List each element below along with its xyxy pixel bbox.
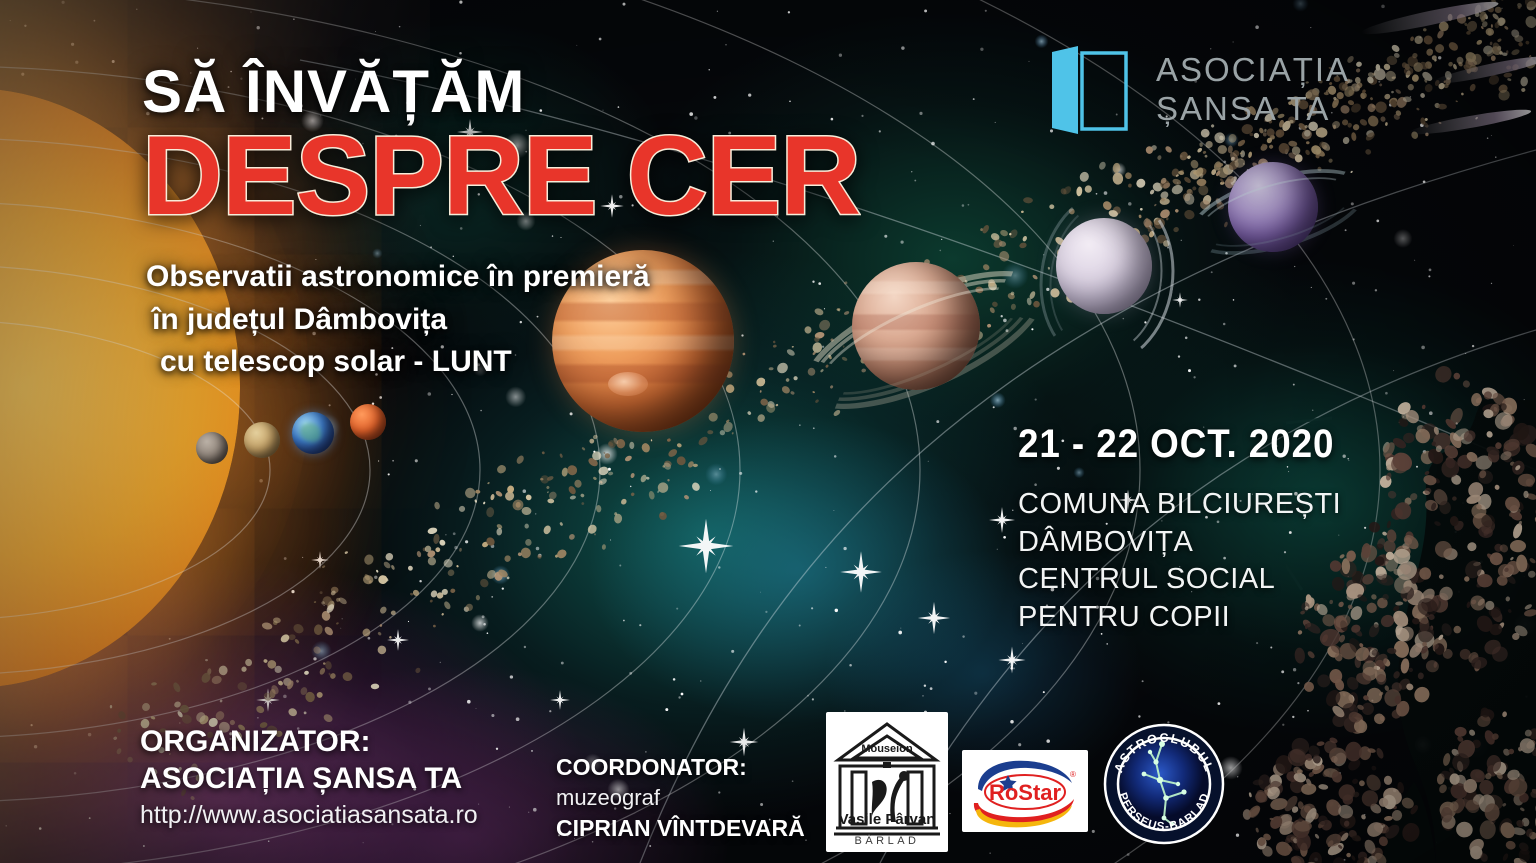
rostar-swoosh-icon: RoStar ®: [964, 753, 1086, 829]
planet-mercury: [196, 432, 228, 464]
partner-logo-astroclub[interactable]: ASTROCLUBUL PERSEUS-BARLAD: [1102, 722, 1226, 846]
poster-canvas: SĂ ÎNVĂȚĂM DESPRE CER Observatii astrono…: [0, 0, 1536, 863]
partner-logos: Mouseion Vasile Pârvan BÂRLAD RoStar ®: [826, 712, 1226, 852]
venue-line-2: DÂMBOVIȚA: [1018, 524, 1362, 562]
partner-logo-rostar[interactable]: RoStar ®: [962, 750, 1088, 832]
headline-block: SĂ ÎNVĂȚĂM DESPRE CER: [142, 62, 860, 232]
venue-line-1: COMUNA BILCIUREȘTI: [1018, 486, 1362, 524]
subtitle-line-2: în județul Dâmbovița: [146, 299, 650, 342]
partner-logo-museum[interactable]: Mouseion Vasile Pârvan BÂRLAD: [826, 712, 948, 852]
subtitle-line-3: cu telescop solar - LUNT: [146, 341, 650, 384]
coordinator-name: CIPRIAN VÎNTDEVARĂ: [556, 813, 805, 844]
brand-name-line-1: ASOCIAȚIA: [1156, 51, 1350, 90]
venue-line-4: PENTRU COPII: [1018, 599, 1362, 637]
museum-building-icon: Mouseion Vasile Pârvan BÂRLAD: [828, 714, 946, 850]
organizer-url[interactable]: http://www.asociatiasansata.ro: [140, 799, 478, 832]
rostar-name: RoStar: [989, 780, 1062, 805]
organizer-name: ASOCIAȚIA ȘANSA TA: [140, 761, 478, 798]
organizer-block: ORGANIZATOR: ASOCIAȚIA ȘANSA TA http://w…: [140, 724, 478, 832]
event-date: 21 - 22 OCT. 2020: [1018, 424, 1334, 464]
brand-logo: ASOCIAȚIA ȘANSA TA: [1048, 44, 1350, 136]
museum-name: Vasile Pârvan: [839, 811, 936, 828]
constellation-icon: ASTROCLUBUL PERSEUS-BARLAD: [1102, 722, 1226, 846]
coordinator-block: COORDONATOR: muzeograf CIPRIAN VÎNTDEVAR…: [556, 752, 805, 844]
event-venue: COMUNA BILCIUREȘTI DÂMBOVIȚA CENTRUL SOC…: [1018, 486, 1362, 637]
museum-city: BÂRLAD: [854, 834, 919, 847]
open-door-icon: [1048, 44, 1134, 136]
planet-mars: [350, 404, 386, 440]
subtitle-block: Observatii astronomice în premieră în ju…: [146, 256, 650, 384]
coordinator-role: muzeograf: [556, 783, 805, 813]
planet-venus: [244, 422, 280, 458]
coordinator-label: COORDONATOR:: [556, 752, 805, 783]
venue-line-3: CENTRUL SOCIAL: [1018, 561, 1362, 599]
brand-name-line-2: ȘANSA TA: [1156, 90, 1350, 129]
planet-earth: [292, 412, 334, 454]
event-info-block: 21 - 22 OCT. 2020 COMUNA BILCIUREȘTI DÂM…: [1018, 424, 1362, 637]
headline-line-2: DESPRE CER: [142, 120, 860, 232]
museum-top-text: Mouseion: [861, 743, 913, 755]
brand-logo-text: ASOCIAȚIA ȘANSA TA: [1156, 51, 1350, 129]
subtitle-line-1: Observatii astronomice în premieră: [146, 256, 650, 299]
registered-mark-icon: ®: [1070, 770, 1076, 779]
organizer-label: ORGANIZATOR:: [140, 724, 478, 761]
